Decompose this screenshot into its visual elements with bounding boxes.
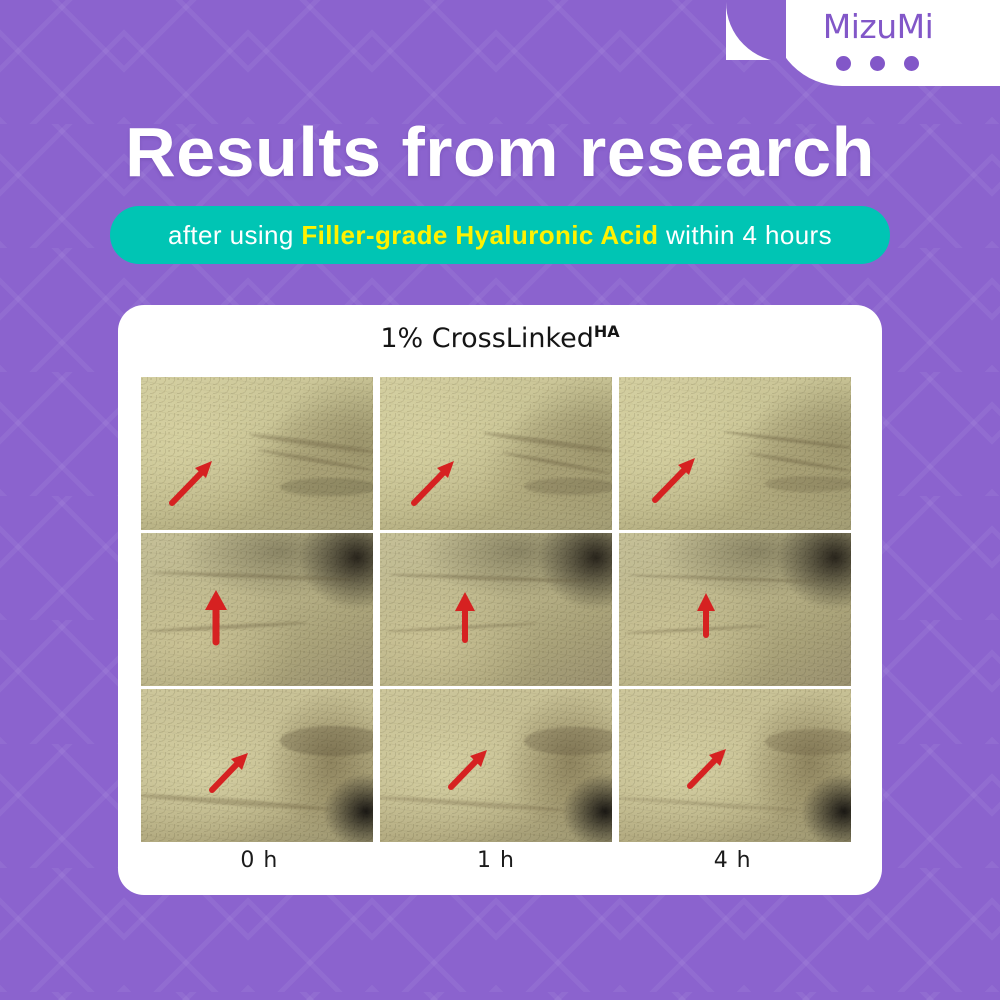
timepoint-label: 4 h — [614, 848, 851, 873]
skin-texture-overlay — [619, 377, 851, 530]
timepoint-labels: 0 h 1 h 4 h — [141, 848, 851, 873]
card-title-superscript: HA — [594, 322, 620, 341]
timepoint-label: 1 h — [378, 848, 615, 873]
brand-dot-icon — [870, 56, 885, 71]
photo-cell-row1-4h — [619, 377, 851, 530]
photo-cell-row1-1h — [380, 377, 612, 530]
photo-cell-row2-1h — [380, 533, 612, 686]
photo-cell-row3-1h — [380, 689, 612, 842]
subtitle-suffix: within 4 hours — [658, 220, 832, 250]
brand-dot-icon — [904, 56, 919, 71]
skin-texture-overlay — [141, 533, 373, 686]
brand-wordmark: MizuMi — [772, 7, 984, 46]
results-card: 1% CrossLinkedHA — [118, 305, 882, 895]
subtitle-highlight: Filler-grade Hyaluronic Acid — [301, 220, 658, 250]
photo-cell-row3-0h — [141, 689, 373, 842]
photo-cell-row2-0h — [141, 533, 373, 686]
brand-dot-icon — [836, 56, 851, 71]
skin-texture-overlay — [141, 377, 373, 530]
photo-cell-row2-4h — [619, 533, 851, 686]
skin-texture-overlay — [619, 689, 851, 842]
photo-comparison-grid — [141, 377, 851, 842]
photo-cell-row3-4h — [619, 689, 851, 842]
timepoint-label: 0 h — [141, 848, 378, 873]
skin-texture-overlay — [141, 689, 373, 842]
subtitle-banner: after using Filler-grade Hyaluronic Acid… — [110, 206, 890, 264]
page-title: Results from research — [0, 114, 1000, 190]
photo-cell-row1-0h — [141, 377, 373, 530]
skin-texture-overlay — [619, 533, 851, 686]
card-title: 1% CrossLinkedHA — [118, 322, 882, 354]
brand-dots-group — [772, 56, 982, 71]
skin-texture-overlay — [380, 377, 612, 530]
card-title-main: 1% CrossLinked — [380, 323, 594, 354]
subtitle-text: after using Filler-grade Hyaluronic Acid… — [168, 220, 832, 251]
brand-logo-badge[interactable]: MizuMi — [772, 0, 1000, 86]
skin-texture-overlay — [380, 533, 612, 686]
subtitle-prefix: after using — [168, 220, 301, 250]
skin-texture-overlay — [380, 689, 612, 842]
